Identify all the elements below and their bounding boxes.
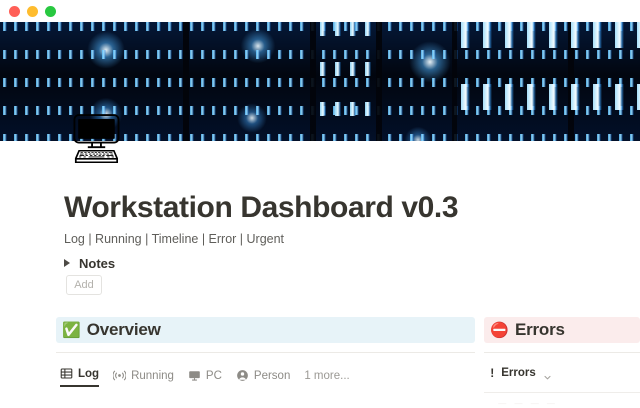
triangle-right-icon[interactable] <box>64 259 70 267</box>
tab-running[interactable]: Running <box>113 369 174 387</box>
tab-log-label: Log <box>78 368 99 380</box>
overview-divider <box>56 352 475 353</box>
notes-toggle-label: Notes <box>79 256 115 271</box>
exclamation-icon: ! <box>490 367 494 379</box>
tab-running-label: Running <box>131 370 174 382</box>
tab-log[interactable]: Log <box>60 367 99 387</box>
broadcast-icon <box>113 369 126 382</box>
tab-person[interactable]: Person <box>236 369 290 387</box>
page-content: Workstation Dashboard v0.3 Log | Running… <box>0 141 640 400</box>
person-icon <box>236 369 249 382</box>
errors-title: Errors <box>515 320 565 340</box>
tab-pc-label: PC <box>206 370 222 382</box>
overview-tabbar: Log Running <box>56 361 475 387</box>
add-button[interactable]: Add <box>66 275 102 295</box>
tab-person-label: Person <box>254 370 290 382</box>
errors-divider-top <box>484 352 640 353</box>
errors-header[interactable]: ⛔ Errors <box>484 317 640 343</box>
table-icon <box>60 367 73 380</box>
chevron-down-icon[interactable] <box>543 369 552 378</box>
page-subtitle: Log | Running | Timeline | Error | Urgen… <box>64 232 284 246</box>
window-close-button[interactable] <box>9 6 20 17</box>
errors-ghost-row: — — — — <box>484 399 640 408</box>
tab-more-button[interactable]: 1 more... <box>304 370 349 387</box>
notes-toggle[interactable]: Notes <box>64 253 115 273</box>
overview-header[interactable]: ✅ Overview <box>56 317 475 343</box>
window-minimize-button[interactable] <box>27 6 38 17</box>
page-title: Workstation Dashboard v0.3 <box>64 191 458 225</box>
white-check-mark-icon: ✅ <box>62 323 81 338</box>
errors-column: ⛔ Errors ! Errors — — — — <box>484 317 640 400</box>
overview-column: ✅ Overview Log <box>56 317 475 400</box>
no-entry-icon: ⛔ <box>490 323 509 338</box>
monitor-icon <box>188 369 201 382</box>
window-titlebar <box>0 0 640 22</box>
errors-divider-bottom <box>484 392 640 393</box>
column-layout: ✅ Overview Log <box>0 317 640 400</box>
tab-pc[interactable]: PC <box>188 369 222 387</box>
window-maximize-button[interactable] <box>45 6 56 17</box>
errors-row-label: Errors <box>501 367 536 379</box>
desktop-computer-icon[interactable]: 🖥 <box>66 113 120 167</box>
overview-title: Overview <box>87 320 161 340</box>
errors-list-row[interactable]: ! Errors <box>484 363 640 383</box>
